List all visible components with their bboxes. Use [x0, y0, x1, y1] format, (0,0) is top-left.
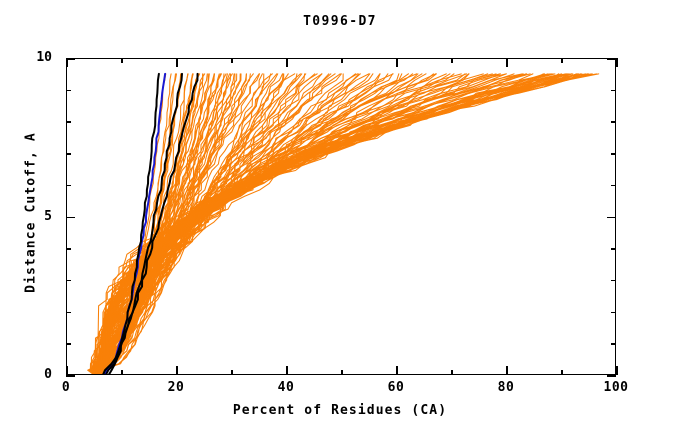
y-tick-right-4 [611, 248, 616, 250]
x-tick-0 [66, 366, 68, 375]
x-tick-top-90 [561, 58, 563, 63]
y-tick-label-5: 5 [18, 209, 52, 224]
x-tick-top-70 [451, 58, 453, 63]
y-tick-1 [66, 343, 71, 345]
y-tick-right-6 [611, 185, 616, 187]
chart-title: T0996-D7 [0, 14, 680, 29]
y-tick-4 [66, 248, 71, 250]
x-tick-40 [286, 366, 288, 375]
x-tick-label-80: 80 [476, 380, 536, 395]
y-tick-right-7 [611, 153, 616, 155]
x-tick-top-10 [121, 58, 123, 63]
y-tick-right-0 [607, 375, 616, 377]
y-tick-label-0: 0 [18, 367, 52, 382]
y-tick-right-8 [611, 121, 616, 123]
y-tick-right-1 [611, 343, 616, 345]
y-tick-8 [66, 121, 71, 123]
x-tick-label-100: 100 [586, 380, 646, 395]
y-tick-right-9 [611, 90, 616, 92]
x-tick-top-30 [231, 58, 233, 63]
x-tick-90 [561, 370, 563, 375]
x-tick-top-40 [286, 58, 288, 67]
chart-page: T0996-D7 Percent of Residues (CA) Distan… [0, 0, 680, 440]
y-tick-right-2 [611, 312, 616, 314]
plot-area [66, 58, 616, 375]
y-tick-0 [66, 375, 75, 377]
x-tick-top-100 [616, 58, 618, 67]
y-tick-3 [66, 280, 71, 282]
x-tick-60 [396, 366, 398, 375]
y-tick-label-10: 10 [18, 50, 52, 65]
x-tick-30 [231, 370, 233, 375]
y-tick-right-5 [607, 217, 616, 219]
x-tick-top-60 [396, 58, 398, 67]
x-tick-20 [176, 366, 178, 375]
x-axis-title: Percent of Residues (CA) [0, 403, 680, 418]
y-tick-6 [66, 185, 71, 187]
y-tick-right-3 [611, 280, 616, 282]
y-tick-right-10 [607, 58, 616, 60]
x-tick-70 [451, 370, 453, 375]
x-tick-label-0: 0 [36, 380, 96, 395]
y-tick-2 [66, 312, 71, 314]
x-tick-label-60: 60 [366, 380, 426, 395]
x-tick-50 [341, 370, 343, 375]
x-tick-label-40: 40 [256, 380, 316, 395]
x-tick-100 [616, 366, 618, 375]
x-tick-top-80 [506, 58, 508, 67]
y-tick-10 [66, 58, 75, 60]
x-tick-10 [121, 370, 123, 375]
y-tick-9 [66, 90, 71, 92]
x-tick-top-20 [176, 58, 178, 67]
x-tick-top-50 [341, 58, 343, 63]
plot-frame [66, 58, 616, 375]
x-tick-80 [506, 366, 508, 375]
x-tick-label-20: 20 [146, 380, 206, 395]
y-tick-7 [66, 153, 71, 155]
y-tick-5 [66, 217, 75, 219]
